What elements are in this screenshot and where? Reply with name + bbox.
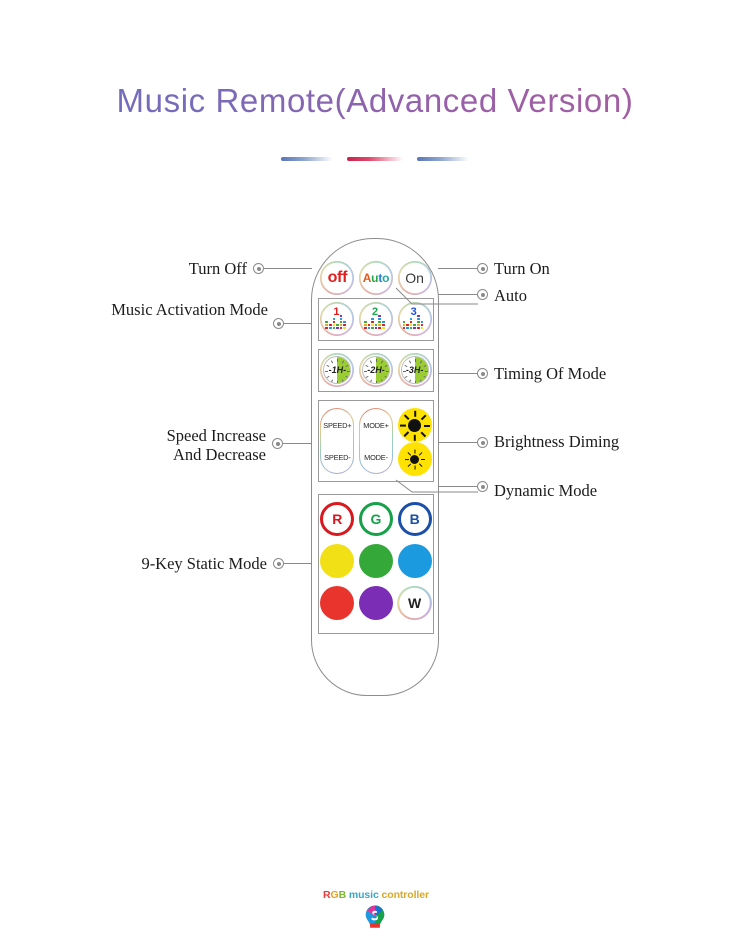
music-mode-3-button[interactable]: 3 [398, 302, 432, 336]
dynamic-mode-button[interactable] [398, 442, 432, 476]
color-yellow-button[interactable] [320, 544, 354, 578]
music-mode-row: 1 2 [318, 302, 434, 336]
off-button[interactable]: off [320, 261, 354, 295]
mode-pill[interactable]: MODE+ MODE- [359, 408, 393, 474]
auto-button[interactable]: Auto [359, 261, 393, 295]
brand-r: R [323, 889, 330, 901]
timer-row: -1H- -2H- -3H- [318, 353, 434, 387]
callout-dynamic-mode-leader [438, 486, 478, 487]
timer-label: -1H- [324, 357, 350, 383]
timer-2h-button[interactable]: -2H- [359, 353, 393, 387]
callout-speed-marker [272, 438, 283, 449]
timer-label: -3H- [402, 357, 428, 383]
clock-icon: -3H- [401, 356, 429, 384]
callout-timing-of-mode-marker [477, 368, 488, 379]
color-purple-button[interactable] [359, 586, 393, 620]
static-color-grid: R G B W [318, 502, 434, 620]
mode-up-button[interactable]: MODE+ [360, 409, 392, 441]
remote-control-body: off Auto On 1 [311, 238, 439, 696]
speed-up-button[interactable]: SPEED+ [321, 409, 353, 441]
divider-bar-2 [347, 157, 403, 161]
equalizer-icon: 1 [324, 308, 350, 330]
callout-brightness-diming: Brightness Diming [494, 432, 619, 451]
power-row: off Auto On [318, 261, 434, 295]
color-key-label: W [408, 595, 421, 611]
callout-turn-off-marker [253, 263, 264, 274]
divider-bar-1 [281, 157, 333, 161]
speed-pill[interactable]: SPEED+ SPEED- [320, 408, 354, 474]
on-button[interactable]: On [398, 261, 432, 295]
music-mode-1-button[interactable]: 1 [320, 302, 354, 336]
callout-speed-increase-decrease: Speed Increase And Decrease [0, 426, 266, 465]
equalizer-bars [325, 314, 346, 329]
callout-timing-of-mode-leader [438, 373, 478, 374]
speed-mode-row: SPEED+ SPEED- MODE+ MODE- [318, 408, 434, 476]
timer-3h-button[interactable]: -3H- [398, 353, 432, 387]
callout-music-activation-mode: Music Activation Mode [0, 300, 268, 319]
brand-music: music [346, 889, 381, 901]
on-button-label: On [405, 270, 424, 286]
color-green-button[interactable] [359, 544, 393, 578]
callout-turn-on-leader [438, 268, 478, 269]
color-red-ring-button[interactable]: R [320, 502, 354, 536]
divider-bar-3 [417, 157, 469, 161]
clock-icon: -1H- [323, 356, 351, 384]
color-cyan-blue-button[interactable] [398, 544, 432, 578]
callout-9-key-static-mode-leader [284, 563, 312, 564]
mode-down-button[interactable]: MODE- [360, 441, 392, 473]
brand-text: RGB music controller [312, 889, 440, 901]
callout-turn-on-marker [477, 263, 488, 274]
auto-button-label: Auto [363, 271, 390, 285]
equalizer-bars [364, 314, 385, 329]
equalizer-icon: 3 [402, 308, 428, 330]
callout-9-key-static-mode: 9-Key Static Mode [0, 554, 267, 573]
callout-speed-line-1: Speed Increase [0, 426, 266, 445]
equalizer-icon: 2 [363, 308, 389, 330]
brand-controller: controller [382, 889, 429, 901]
callout-brightness-diming-leader [438, 442, 478, 443]
callout-speed-line-2: And Decrease [0, 445, 266, 464]
brand-g: G [331, 889, 339, 901]
timer-label: -2H- [363, 357, 389, 383]
color-white-button[interactable]: W [398, 586, 432, 620]
clock-icon: -2H- [362, 356, 390, 384]
speed-down-button[interactable]: SPEED- [321, 441, 353, 473]
music-mode-2-button[interactable]: 2 [359, 302, 393, 336]
callout-auto-marker [477, 289, 488, 300]
color-green-ring-button[interactable]: G [359, 502, 393, 536]
color-key-label: G [371, 511, 382, 527]
color-key-label: B [410, 511, 420, 527]
callout-auto-leader [438, 294, 478, 295]
color-red-button[interactable] [320, 586, 354, 620]
sun-key-column [398, 408, 432, 476]
callout-speed-leader [283, 443, 312, 444]
timer-1h-button[interactable]: -1H- [320, 353, 354, 387]
callout-music-activation-mode-marker [273, 318, 284, 329]
color-blue-ring-button[interactable]: B [398, 502, 432, 536]
callout-turn-off-leader [264, 268, 312, 269]
callout-dynamic-mode-marker [477, 481, 488, 492]
brightness-dimming-button[interactable] [398, 408, 432, 442]
callout-brightness-diming-marker [477, 437, 488, 448]
callout-9-key-static-mode-marker [273, 558, 284, 569]
bulb-logo-icon [364, 905, 386, 931]
page-root: Music Remote(Advanced Version) off Auto … [0, 0, 750, 750]
page-title: Music Remote(Advanced Version) [0, 82, 750, 120]
title-divider [0, 157, 750, 161]
callout-dynamic-mode: Dynamic Mode [494, 481, 597, 500]
equalizer-bars [403, 314, 424, 329]
callout-timing-of-mode: Timing Of Mode [494, 364, 606, 383]
callout-turn-off: Turn Off [0, 259, 247, 278]
callout-turn-on: Turn On [494, 259, 550, 278]
color-key-label: R [332, 511, 342, 527]
callout-music-activation-mode-leader [284, 323, 312, 324]
off-button-label: off [328, 269, 348, 287]
brand-b: B [339, 889, 346, 901]
callout-auto: Auto [494, 286, 527, 305]
